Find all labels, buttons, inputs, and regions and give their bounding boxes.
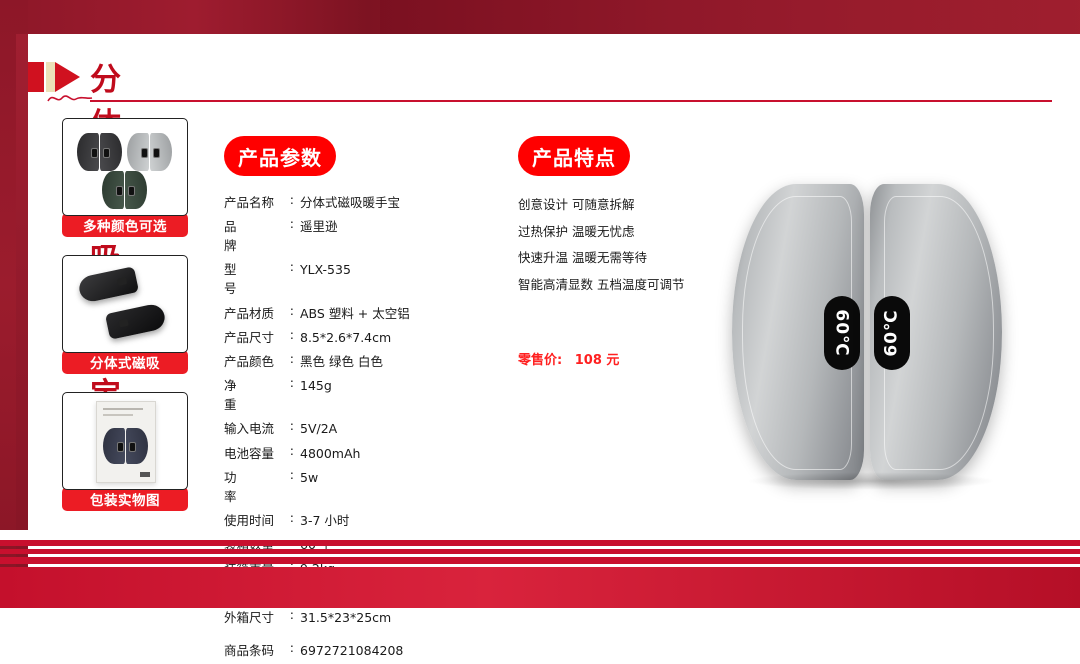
spec-label: 产品尺寸: (224, 327, 294, 346)
color-variants-photo (62, 118, 188, 216)
title-underline (90, 100, 1052, 102)
squiggle-icon (46, 90, 94, 106)
thumbnail-caption: 包装实物图 (62, 487, 188, 511)
spec-label: 品牌: (224, 216, 294, 254)
spec-label: 电池容量: (224, 443, 294, 462)
features-badge: 产品特点 (518, 136, 630, 176)
spec-label: 输入电流: (224, 418, 294, 437)
thumbnail-item[interactable]: 多种颜色可选 (62, 118, 188, 237)
spec-value: 3-7 小时 (300, 510, 349, 529)
left-decor-band-inner (16, 34, 28, 568)
retail-price: 零售价: 108 元 (518, 349, 619, 368)
params-badge: 产品参数 (224, 136, 336, 176)
spec-label: 产品颜色: (224, 351, 294, 370)
spec-row: 产品颜色: 黑色 绿色 白色 (224, 351, 494, 370)
spec-row: 产品尺寸: 8.5*2.6*7.4cm (224, 327, 494, 346)
price-value: 108 元 (575, 353, 620, 368)
spec-row: 输入电流: 5V/2A (224, 418, 494, 437)
hero-left-display: 60℃ (824, 296, 860, 370)
spec-row: 外箱尺寸: 31.5*23*25cm (224, 607, 494, 626)
spec-label: 产品名称: (224, 192, 294, 211)
spec-row: 功率: 5w (224, 467, 494, 505)
thumbnail-item[interactable]: 分体式磁吸 (62, 255, 188, 374)
hero-product-image: 60℃ 60℃ (728, 184, 1008, 484)
spec-value: 145g (300, 378, 332, 393)
hero-left-half: 60℃ (732, 184, 864, 480)
thumbnail-caption: 多种颜色可选 (62, 213, 188, 237)
package-photo (62, 392, 188, 490)
split-magnetic-photo (62, 255, 188, 353)
barcode-row: 商品条码: 6972721084208 (224, 640, 494, 659)
spec-label: 净重: (224, 375, 294, 413)
spec-value: 8.5*2.6*7.4cm (300, 330, 391, 345)
spec-label: 使用时间: (224, 510, 294, 529)
spec-row: 净重: 145g (224, 375, 494, 413)
spec-value: 分体式磁吸暖手宝 (300, 192, 400, 211)
thumbnail-caption: 分体式磁吸 (62, 350, 188, 374)
spec-label: 型号: (224, 259, 294, 297)
spec-value: 黑色 绿色 白色 (300, 351, 383, 370)
spec-value: 5V/2A (300, 421, 337, 436)
spec-value: 31.5*23*25cm (300, 610, 391, 625)
spec-row: 产品名称: 分体式磁吸暖手宝 (224, 192, 494, 211)
thumbnail-item[interactable]: 包装实物图 (62, 392, 188, 511)
spec-row: 品牌: 遥里逊 (224, 216, 494, 254)
spec-value: ABS 塑料 + 太空铝 (300, 303, 410, 322)
top-decor-band-right (380, 0, 1080, 34)
bottom-accent-band (0, 567, 1080, 608)
spec-row: 使用时间: 3-7 小时 (224, 510, 494, 529)
spec-row: 产品材质: ABS 塑料 + 太空铝 (224, 303, 494, 322)
spec-row: 型号: YLX-535 (224, 259, 494, 297)
spec-value: 4800mAh (300, 446, 360, 461)
spec-value: YLX-535 (300, 262, 351, 277)
spec-value: 遥里逊 (300, 216, 338, 235)
content-card: 分体式磁吸暖手宝 (28, 34, 1052, 568)
spec-value: 6972721084208 (300, 643, 403, 658)
thumbnail-column: 多种颜色可选 分体式磁吸 (62, 118, 194, 529)
spec-value: 5w (300, 470, 318, 485)
hero-right-display: 60℃ (874, 296, 910, 370)
spec-label: 外箱尺寸: (224, 607, 294, 626)
arrow-bullet-icon (28, 62, 80, 92)
spec-label: 功率: (224, 467, 294, 505)
spec-label: 商品条码: (224, 640, 294, 659)
spec-label: 产品材质: (224, 303, 294, 322)
spec-row: 电池容量: 4800mAh (224, 443, 494, 462)
price-label: 零售价: (518, 353, 562, 368)
hero-right-half: 60℃ (870, 184, 1002, 480)
